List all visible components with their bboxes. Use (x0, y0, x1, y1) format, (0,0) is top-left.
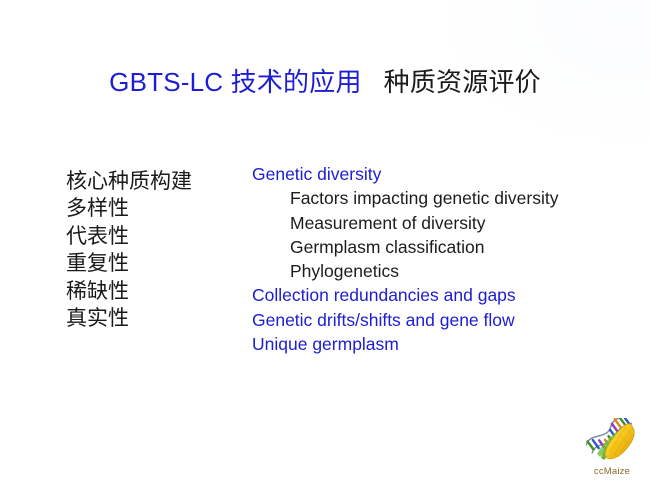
list-item-sub: Measurement of diversity (252, 211, 632, 235)
list-item-heading: Unique germplasm (252, 332, 632, 356)
list-item: 多样性 (66, 195, 236, 222)
ccmaize-logo: ccMaize (578, 418, 646, 484)
left-column-list: 核心种质构建 多样性 代表性 重复性 稀缺性 真实性 (66, 168, 236, 332)
list-item-sub: Germplasm classification (252, 235, 632, 259)
page-title-black-segment: 种质资源评价 (384, 67, 541, 97)
right-column-list: Genetic diversity Factors impacting gene… (252, 162, 632, 356)
page-title: GBTS-LC 技术的应用种质资源评价 (0, 66, 650, 98)
list-item-heading: Genetic diversity (252, 162, 632, 186)
list-item-heading: Genetic drifts/shifts and gene flow (252, 308, 632, 332)
page-title-blue-segment: GBTS-LC 技术的应用 (109, 67, 362, 97)
list-item-heading: Collection redundancies and gaps (252, 283, 632, 307)
list-item: 核心种质构建 (66, 168, 236, 195)
list-item: 代表性 (66, 223, 236, 250)
maize-dna-logo-icon (586, 418, 642, 466)
list-item: 稀缺性 (66, 278, 236, 305)
list-item-sub: Phylogenetics (252, 259, 632, 283)
list-item-sub: Factors impacting genetic diversity (252, 186, 632, 210)
slide-canvas: GBTS-LC 技术的应用种质资源评价 核心种质构建 多样性 代表性 重复性 稀… (0, 0, 650, 487)
list-item: 真实性 (66, 305, 236, 332)
logo-caption: ccMaize (578, 466, 646, 477)
list-item: 重复性 (66, 250, 236, 277)
